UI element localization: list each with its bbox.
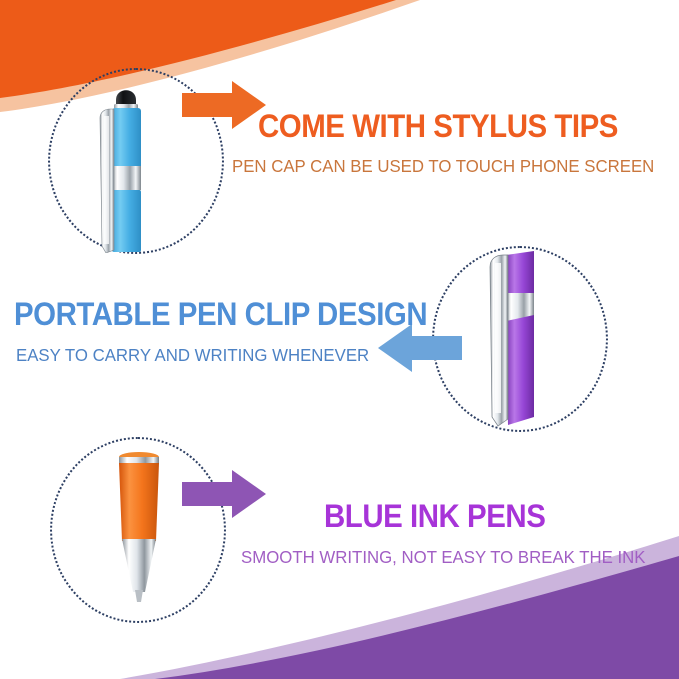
pen-top-collar [119,457,159,464]
pen-barrel-upper [112,108,141,170]
feature-subline-ink: SMOOTH WRITING, NOT EASY TO BREAK THE IN… [241,547,646,567]
feature-headline-clip: PORTABLE PEN CLIP DESIGN [14,298,427,332]
orange-ink-pen [98,446,180,604]
pen-barrel-lower [506,315,534,425]
feature-text-clip: PORTABLE PEN CLIP DESIGN EASY TO CARRY A… [14,298,463,365]
feature-subline-stylus: PEN CAP CAN BE USED TO TOUCH PHONE SCREE… [232,156,654,176]
pen-writing-tip [135,590,143,602]
feature-text-stylus: COME WITH STYLUS TIPS PEN CAP CAN BE USE… [258,110,672,176]
feature-subline-clip: EASY TO CARRY AND WRITING WHENEVER [16,345,445,365]
pen-barrel [119,463,159,541]
stylus-tip [116,90,136,106]
purple-swoosh-main [155,556,679,679]
pen-barrel-lower [112,190,141,252]
feature-headline-stylus: COME WITH STYLUS TIPS [258,110,639,144]
product-feature-infographic: COME WITH STYLUS TIPS PEN CAP CAN BE USE… [0,0,679,679]
purple-clip-pen [478,249,570,427]
pen-clip-highlight [104,116,109,244]
feature-headline-ink: BLUE INK PENS [324,500,635,534]
blue-stylus-pen [92,78,184,253]
arrow-right-orange [182,79,266,131]
pen-clip-highlight [495,263,501,413]
feature-text-ink: BLUE INK PENS SMOOTH WRITING, NOT EASY T… [324,500,662,567]
pen-nose-cone [122,539,156,592]
arrow-right-purple [182,468,266,520]
pen-cap [506,251,534,295]
